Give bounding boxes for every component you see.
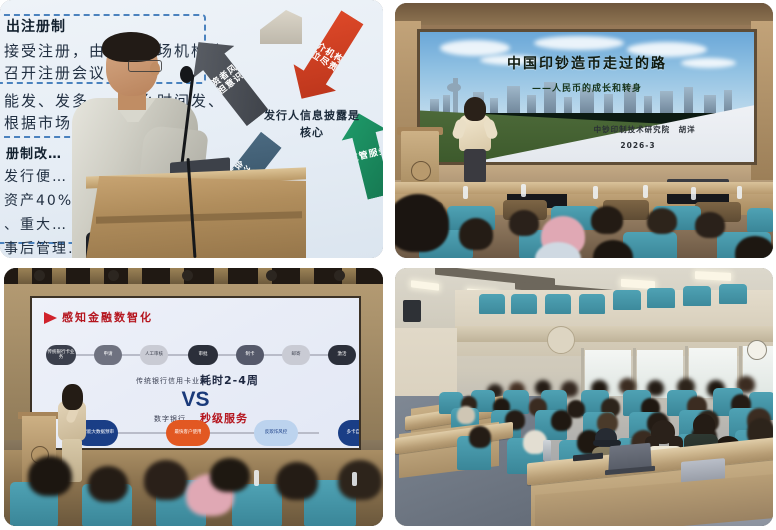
timeline-node-5: 邮寄 bbox=[282, 345, 310, 365]
cycle-center-label: 发行人信息披露是核心 bbox=[260, 108, 364, 141]
digital-node-1: 最快客户使用 bbox=[166, 420, 210, 446]
timeline-node-6: 激活 bbox=[328, 345, 356, 365]
slide-body2-line-3: 、重大… bbox=[4, 214, 68, 234]
wall-speaker bbox=[403, 300, 421, 322]
traditional-caption: 传统银行信用卡业务 bbox=[136, 376, 208, 386]
timeline-node-3: 审批 bbox=[188, 345, 218, 365]
timeline-node-1: 申请 bbox=[94, 345, 122, 365]
cycle-arrow-connector bbox=[260, 10, 302, 44]
audience-foreground bbox=[4, 454, 383, 526]
institution-seal bbox=[547, 326, 575, 354]
photo-collage: 出注册制 接受注册，由……市场机构的 召开注册会议…… 能发、发多……什么时间发… bbox=[0, 0, 776, 530]
timeline-node-2: 人工审核 bbox=[140, 345, 168, 365]
photo-panel-bottom-left: 感知金融数智化 传统银行卡业务 申请 人工审核 审批 制卡 邮寄 激活 开卡使用… bbox=[4, 268, 383, 526]
thermos-bottle bbox=[543, 440, 551, 461]
slide-date: 2026-3 bbox=[620, 141, 655, 150]
photo-panel-top-left: 出注册制 接受注册，由……市场机构的 召开注册会议…… 能发、发多……什么时间发… bbox=[0, 0, 383, 258]
digital-duration: 秒级服务 bbox=[200, 410, 248, 426]
audience-seating bbox=[395, 196, 773, 258]
slide-organization: 中钞印制技术研究院 胡洋 bbox=[594, 124, 696, 135]
timeline-node-0: 传统银行卡业务 bbox=[46, 345, 76, 365]
slide-body2-line-1: 发行便… bbox=[4, 166, 68, 186]
slide-subtitle: ——人民币的成长和转身 bbox=[420, 81, 754, 94]
slide-heading: 出注册制 bbox=[6, 16, 66, 36]
traditional-duration: 耗时2-4周 bbox=[200, 372, 259, 388]
stage-speaker-figure bbox=[455, 99, 495, 183]
digital-node-2: 反欺诈风控 bbox=[254, 420, 298, 446]
microphone-head bbox=[180, 66, 193, 83]
photo-panel-bottom-right bbox=[395, 268, 773, 526]
slide-title: 中国印钞造币走过的路 bbox=[420, 53, 754, 73]
slide-heading-2: 册制改… bbox=[6, 143, 62, 162]
eyeglasses bbox=[128, 60, 162, 72]
red-flag-icon bbox=[44, 312, 57, 324]
wall-clock bbox=[747, 340, 767, 360]
timeline-node-4: 制卡 bbox=[236, 345, 264, 365]
digital-node-3: 多卡自动无感 bbox=[338, 420, 361, 446]
photo-panel-top-right: 中国印钞造币走过的路 ——人民币的成长和转身 中钞印制技术研究院 胡洋 2026… bbox=[395, 3, 773, 258]
slide-title: 感知金融数智化 bbox=[62, 309, 153, 325]
podium-emblem bbox=[411, 161, 431, 181]
